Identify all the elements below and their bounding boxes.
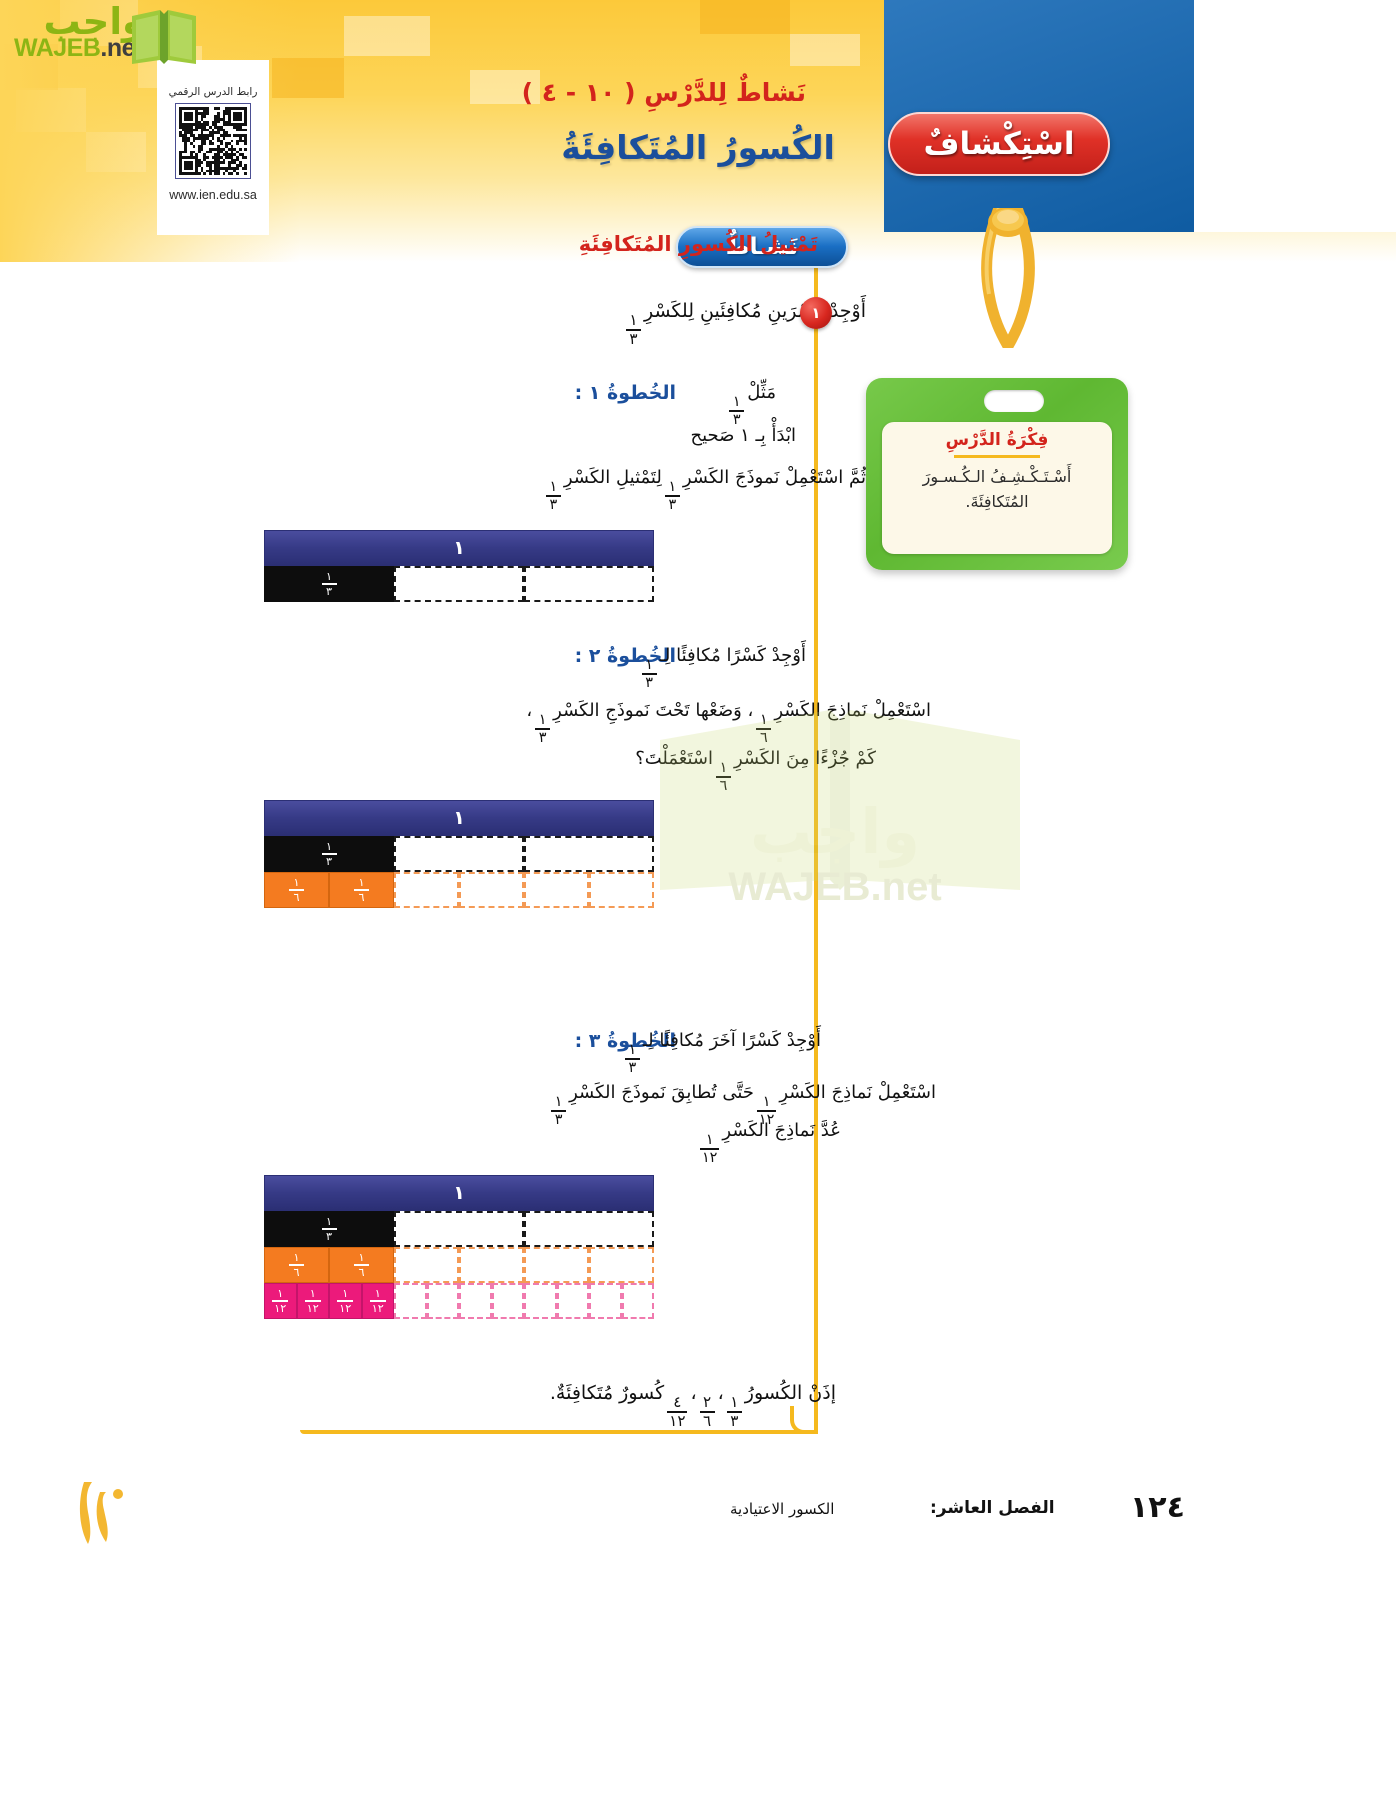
fraction-cell-thirds <box>394 836 524 872</box>
lesson-idea-underline <box>954 455 1040 458</box>
fraction-cell-sixths <box>524 1247 589 1283</box>
fraction-cell-twelfths <box>557 1283 590 1319</box>
text-part: أَوْجِدْ كَسْرًا آخَرَ مُكافِئًا لِـ <box>643 1030 821 1051</box>
step-2-line-3: كَمْ جُزْءًا مِنَ الكَسْرِ١٦اسْتَعْمَلْت… <box>635 748 876 793</box>
step-2-line-2: اسْتَعْمِلْ نَماذِجَ الكَسْرِ١٦، وَضَعْه… <box>526 700 931 745</box>
conclusion-fraction-3: ٤١٢ <box>667 1395 687 1429</box>
horizontal-rule <box>300 1430 818 1434</box>
fraction-cell-twelfths: ١١٢ <box>329 1283 362 1319</box>
page-title: الكُسورُ المُتَكافِئَةُ <box>548 128 848 167</box>
fraction-cell-twelfths <box>459 1283 492 1319</box>
tassel-rope-icon <box>975 208 1041 348</box>
text-part: إذَنْ الكُسورُ <box>745 1382 836 1404</box>
model-row-sixths: ١٦١٦ <box>264 872 654 908</box>
fraction-cell-sixths <box>459 1247 524 1283</box>
cell-fraction: ١١٢ <box>305 1288 321 1314</box>
inline-fraction: ١٦ <box>716 761 731 793</box>
fraction-cell-twelfths: ١١٢ <box>362 1283 395 1319</box>
cell-fraction: ١٦ <box>289 1252 304 1278</box>
fraction-cell-thirds: ١٣ <box>264 836 394 872</box>
fraction-cell-twelfths <box>589 1283 622 1319</box>
text-part: ، <box>690 1382 696 1404</box>
text-part: أَوْجِدْ كَسْرًا مُكافِئًا لِـ <box>660 645 806 666</box>
fraction-cell-sixths: ١٦ <box>264 1247 329 1283</box>
lesson-number-line: نَشاطٌ لِلدَّرْسِ ( ١٠ - ٤ ) <box>556 78 806 107</box>
text-part: اسْتَعْمَلْتَ؟ <box>635 748 713 769</box>
fraction-cell-sixths <box>589 872 654 908</box>
lesson-idea-body: أَسْـتَـكْـشِـفُ الـكُـسـورَ المُتَكافِئ… <box>894 465 1100 515</box>
intro-fraction: ١٣ <box>626 313 641 347</box>
fraction-cell-thirds: ١٣ <box>264 1211 394 1247</box>
item-bullet-1: ١ <box>800 297 832 329</box>
fraction-cell-twelfths <box>524 1283 557 1319</box>
fraction-cell-thirds <box>394 1211 524 1247</box>
item-bullet-1-label: ١ <box>811 304 820 322</box>
model-row-thirds: ١٣ <box>264 566 654 602</box>
fraction-cell-sixths <box>524 872 589 908</box>
model-row-thirds: ١٣ <box>264 1211 654 1247</box>
fraction-cell-sixths <box>459 872 524 908</box>
lesson-idea-inner: فِكْرَةُ الدَّرْسِ أَسْـتَـكْـشِـفُ الـك… <box>882 422 1112 554</box>
card-hanger-notch <box>984 390 1044 412</box>
wajeb-logo-latin-main: WAJEB <box>14 34 100 62</box>
fraction-cell-sixths: ١٦ <box>264 872 329 908</box>
fraction-cell-thirds <box>524 836 654 872</box>
step-3-line-3: عُدَّ نَماذِجَ الكَسْرِ١١٢ <box>697 1120 841 1165</box>
model-row-thirds: ١٣ <box>264 836 654 872</box>
cell-fraction: ١٦ <box>354 877 369 903</box>
lesson-idea-card: فِكْرَةُ الدَّرْسِ أَسْـتَـكْـشِـفُ الـك… <box>866 378 1128 570</box>
inline-fraction: ١٣ <box>665 480 680 512</box>
text-part: اسْتَعْمِلْ نَماذِجَ الكَسْرِ <box>779 1082 936 1103</box>
explore-badge: اسْتِكْشافٌ <box>888 112 1110 176</box>
text-part: ابْدَأْ بِـ ١ صَحيح <box>690 425 796 446</box>
fraction-cell-thirds <box>394 566 524 602</box>
activity-title: تَمْثيلُ الكُسورِ المُتَكافِئَةِ <box>579 232 818 256</box>
fraction-cell-thirds <box>524 1211 654 1247</box>
text-part: ، وَضَعْها تَحْتَ نَموذَجِ الكَسْرِ <box>553 700 753 721</box>
text-part: عُدَّ نَماذِجَ الكَسْرِ <box>722 1120 841 1141</box>
vertical-rule <box>814 262 818 1432</box>
whole-bar: ١ <box>264 1175 654 1211</box>
lesson-idea-line-2: المُتَكافِئَةَ. <box>894 490 1100 515</box>
watermark-arabic: واجب <box>670 795 1000 868</box>
open-book-icon <box>126 6 202 68</box>
whole-bar: ١ <box>264 800 654 836</box>
textbook-page: واجب WAJEB.net رابط الدرس الرقمي www.ien… <box>0 0 1396 1800</box>
model-row-whole: ١ <box>264 530 654 566</box>
model-row-whole: ١ <box>264 1175 654 1211</box>
watermark-latin: WAJEB.net <box>670 865 1000 910</box>
inline-fraction: ١٣ <box>535 713 550 745</box>
inline-fraction: ١٣ <box>546 480 561 512</box>
fraction-cell-sixths: ١٦ <box>329 1247 394 1283</box>
text-part: كَمْ جُزْءًا مِنَ الكَسْرِ <box>734 748 876 769</box>
model-row-whole: ١ <box>264 800 654 836</box>
ministry-logo-icon <box>74 1478 130 1550</box>
inline-fraction: ١٣ <box>551 1095 566 1127</box>
fraction-cell-twelfths <box>427 1283 460 1319</box>
text-part: حَتَّى تُطابِقَ نَموذَجَ الكَسْرِ <box>569 1082 754 1103</box>
inline-fraction: ١٣ <box>642 658 657 690</box>
step-3-line-1: أَوْجِدْ كَسْرًا آخَرَ مُكافِئًا لِـ١٣ <box>622 1030 821 1075</box>
step-1-line-3: ثُمَّ اسْتَعْمِلْ نَموذَجَ الكَسْرِ١٣لِت… <box>543 467 866 512</box>
text-part: اسْتَعْمِلْ نَماذِجَ الكَسْرِ <box>774 700 931 721</box>
step-1-line-2: ابْدَأْ بِـ ١ صَحيح <box>690 425 796 446</box>
wajeb-logo: واجب WAJEB.net <box>8 4 203 66</box>
lesson-idea-title: فِكْرَةُ الدَّرْسِ <box>894 430 1100 452</box>
whole-bar: ١ <box>264 530 654 566</box>
conclusion-line: إذَنْ الكُسورُ١٣،٢٦،٤١٢كُسورٌ مُتَكافِئَ… <box>550 1382 836 1429</box>
fraction-cell-twelfths: ١١٢ <box>297 1283 330 1319</box>
text-part: كُسورٌ مُتَكافِئَةٌ. <box>550 1382 664 1404</box>
fraction-cell-sixths <box>394 872 459 908</box>
banner-right-white <box>1194 0 1396 232</box>
fraction-model-step-1: ١١٣ <box>264 530 654 602</box>
step-1-line-1: مَثِّلْ١٣ <box>726 382 776 427</box>
text-part: ، <box>526 700 532 721</box>
text-part: ، <box>718 1382 724 1404</box>
cell-fraction: ١١٢ <box>272 1288 288 1314</box>
fraction-cell-sixths <box>394 1247 459 1283</box>
fraction-cell-thirds: ١٣ <box>264 566 394 602</box>
fraction-cell-thirds <box>524 566 654 602</box>
cell-fraction: ١٦ <box>289 877 304 903</box>
fraction-cell-twelfths <box>394 1283 427 1319</box>
page-number: ١٢٤ <box>1130 1490 1185 1525</box>
conclusion-fraction-2: ٢٦ <box>700 1395 715 1429</box>
cell-fraction: ١١٢ <box>337 1288 353 1314</box>
qr-label: رابط الدرس الرقمي <box>169 86 258 98</box>
fraction-cell-twelfths <box>492 1283 525 1319</box>
cell-fraction: ١٣ <box>322 841 337 867</box>
qr-code[interactable] <box>175 103 251 179</box>
wajeb-logo-latin: WAJEB.net <box>14 34 143 63</box>
cell-fraction: ١٣ <box>322 571 337 597</box>
fraction-model-step-3: ١١٣١٦١٦١١٢١١٢١١٢١١٢ <box>264 1175 654 1319</box>
inline-fraction: ١٣ <box>625 1043 640 1075</box>
model-row-twelfths: ١١٢١١٢١١٢١١٢ <box>264 1283 654 1319</box>
fraction-cell-twelfths: ١١٢ <box>264 1283 297 1319</box>
footer-chapter-label: الفصل العاشر: <box>930 1498 1055 1518</box>
step-label-1: الخُطوةُ ١ : <box>575 382 676 404</box>
text-part: لِتَمْثيلِ الكَسْرِ <box>564 467 662 488</box>
cell-fraction: ١٦ <box>354 1252 369 1278</box>
cell-fraction: ١١٢ <box>370 1288 386 1314</box>
model-row-sixths: ١٦١٦ <box>264 1247 654 1283</box>
fraction-cell-twelfths <box>622 1283 655 1319</box>
cell-fraction: ١٣ <box>322 1216 337 1242</box>
conclusion-fraction-1: ١٣ <box>727 1395 742 1429</box>
lesson-idea-line-1: أَسْـتَـكْـشِـفُ الـكُـسـورَ <box>894 465 1100 490</box>
inline-fraction: ١٣ <box>729 395 744 427</box>
explore-badge-label: اسْتِكْشافٌ <box>924 126 1075 162</box>
inline-fraction: ١٦ <box>756 713 771 745</box>
qr-url: www.ien.edu.sa <box>169 188 257 202</box>
fraction-cell-sixths <box>589 1247 654 1283</box>
fraction-model-step-2: ١١٣١٦١٦ <box>264 800 654 908</box>
text-part: مَثِّلْ <box>747 382 776 403</box>
inline-fraction: ١١٢ <box>700 1133 719 1165</box>
step-2-line-1: أَوْجِدْ كَسْرًا مُكافِئًا لِـ١٣ <box>639 645 806 690</box>
text-part: ثُمَّ اسْتَعْمِلْ نَموذَجَ الكَسْرِ <box>683 467 866 488</box>
fraction-cell-sixths: ١٦ <box>329 872 394 908</box>
footer-chapter-name: الكسور الاعتيادية <box>730 1500 834 1518</box>
digital-lesson-qr-card[interactable]: رابط الدرس الرقمي www.ien.edu.sa <box>157 60 269 235</box>
